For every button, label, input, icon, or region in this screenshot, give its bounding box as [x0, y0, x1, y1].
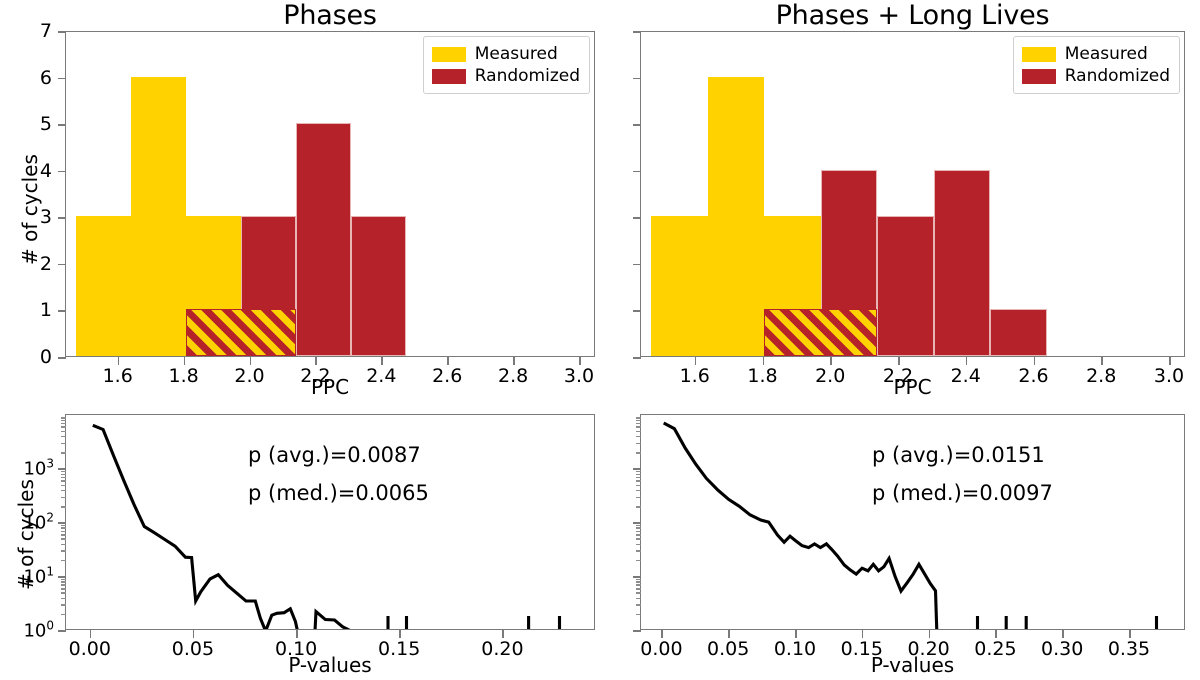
ytickmark-log-minor [61, 471, 66, 473]
xtickmark [929, 630, 931, 638]
xtick-label: 2.0 [234, 365, 264, 387]
xtick-label: 3.0 [1154, 365, 1184, 387]
ytickmark-log-minor [61, 436, 66, 438]
ytickmark-log [58, 576, 66, 578]
ytickmark [633, 310, 641, 312]
xtick-label: 1.8 [747, 365, 777, 387]
ytickmark-log-minor [61, 485, 66, 487]
xtick-label: 0.25 [974, 638, 1016, 660]
panel-title-phases-long-lives: Phases + Long Lives [640, 0, 1185, 31]
xtickmark [830, 357, 832, 365]
ytickmark-log-minor [61, 431, 66, 433]
annotation-p-med-right: p (med.)=0.0097 [872, 481, 1053, 505]
ytickmark-log-minor [636, 588, 641, 590]
legend-row-randomized: Randomized [432, 65, 580, 87]
ytickmark-log-minor [636, 560, 641, 562]
ytickmark [58, 171, 66, 173]
xtick-label: 0.20 [907, 638, 949, 660]
ytickmark-log-minor [636, 436, 641, 438]
ytickmark-log-minor [61, 420, 66, 422]
ytickmark-log-minor [636, 579, 641, 581]
ytickmark-log-minor [61, 598, 66, 600]
figure-canvas: Phases # of cycles PPC Measured [0, 0, 1200, 680]
legend-row-randomized: Randomized [1022, 65, 1170, 87]
ytickmark-log-minor [61, 452, 66, 454]
ytickmark-log-minor [61, 480, 66, 482]
ytickmark-log-minor [636, 417, 641, 419]
ytickmark-log-minor [61, 417, 66, 419]
xtick-label: 0.00 [69, 638, 111, 660]
ytickmark [58, 357, 66, 359]
bar-overlap-hatched [764, 309, 877, 356]
legend-swatch-measured-icon [432, 47, 466, 62]
ytick-label-log: 101 [14, 565, 54, 588]
ytickmark [633, 171, 641, 173]
legend-top-right: Measured Randomized [1013, 36, 1180, 94]
ytickmark-log-minor [61, 423, 66, 425]
bar-measured-2 [708, 77, 765, 356]
xtick-label: 3.0 [564, 365, 594, 387]
xtickmark [315, 357, 317, 365]
panel-phases-pvalues: # of cycles P-values p (avg.)=0.0087 p (… [0, 400, 600, 680]
ytick-label: 6 [20, 67, 52, 89]
ytickmark [58, 31, 66, 33]
ytickmark-log-minor [636, 480, 641, 482]
plot-area-phases-long-lives-histogram: Measured Randomized [640, 31, 1185, 357]
legend-label-randomized: Randomized [475, 68, 580, 85]
ytickmark-log-minor [61, 614, 66, 616]
xtick-label: 2.2 [883, 365, 913, 387]
ytick-label-log: 102 [14, 511, 54, 534]
ytick-label: 4 [20, 160, 52, 182]
legend-swatch-randomized-icon [1022, 69, 1056, 84]
xtickmark [579, 357, 581, 365]
ytickmark-log-minor [636, 584, 641, 586]
bar-randomized-5 [351, 216, 406, 356]
xtickmark [661, 630, 663, 638]
ytickmark-log-minor [636, 431, 641, 433]
xtickmark [1169, 357, 1171, 365]
ytickmark [633, 31, 641, 33]
xtickmark [1034, 357, 1036, 365]
bar-measured-1 [651, 216, 708, 356]
xtickmark [399, 630, 401, 638]
xtick-label: 1.8 [168, 365, 198, 387]
xtick-label: 0.10 [275, 638, 317, 660]
ytickmark-log-minor [61, 581, 66, 583]
xtick-label: 2.4 [366, 365, 396, 387]
ytickmark [633, 357, 641, 359]
bar-randomized-5 [990, 309, 1047, 356]
ytickmark-log-minor [636, 527, 641, 529]
ytickmark [58, 264, 66, 266]
legend-top-left: Measured Randomized [423, 36, 590, 94]
xtickmark [90, 630, 92, 638]
ytickmark-log-minor [636, 550, 641, 552]
xtick-label: 2.0 [815, 365, 845, 387]
ytickmark-log-minor [636, 497, 641, 499]
xtickmark [1129, 630, 1131, 638]
ytickmark-log [58, 468, 66, 470]
ytickmark [58, 124, 66, 126]
bar-randomized-4 [296, 123, 351, 356]
ytick-label: 5 [20, 113, 52, 135]
ytickmark-log-minor [636, 544, 641, 546]
xtick-label: 2.8 [498, 365, 528, 387]
legend-swatch-measured-icon [1022, 47, 1056, 62]
bar-measured-2 [131, 77, 186, 356]
xtickmark [795, 630, 797, 638]
xtick-label: 0.10 [774, 638, 816, 660]
legend-row-measured: Measured [1022, 43, 1170, 65]
xtick-label: 0.05 [707, 638, 749, 660]
xtickmark [1062, 630, 1064, 638]
legend-label-randomized: Randomized [1065, 68, 1170, 85]
ytickmark-log-minor [636, 506, 641, 508]
ytickmark-log [633, 630, 641, 632]
annotation-p-med-left: p (med.)=0.0065 [248, 481, 429, 505]
ytickmark-log-minor [636, 581, 641, 583]
ytickmark-log-minor [61, 474, 66, 476]
ytickmark [633, 124, 641, 126]
ytick-label: 0 [20, 346, 52, 368]
ytickmark-log-minor [636, 598, 641, 600]
ytickmark-log-minor [61, 531, 66, 533]
bar-randomized-3 [877, 216, 934, 356]
panel-phases-long-lives-pvalues: P-values p (avg.)=0.0151 p (med.)=0.0097 [600, 400, 1200, 680]
ytickmark-log-minor [61, 497, 66, 499]
xtick-label: 1.6 [103, 365, 133, 387]
annotation-p-avg-left: p (avg.)=0.0087 [248, 443, 421, 467]
xtick-label: 0.15 [841, 638, 883, 660]
ytickmark-log-minor [636, 538, 641, 540]
ytickmark-log-minor [61, 490, 66, 492]
legend-row-measured: Measured [432, 43, 580, 65]
xtickmark [1101, 357, 1103, 365]
xtickmark [728, 630, 730, 638]
ytickmark-log [633, 522, 641, 524]
ytickmark-log-minor [636, 474, 641, 476]
bar-measured-1 [76, 216, 131, 356]
plot-area-phases-histogram: Measured Randomized [65, 31, 595, 357]
ytick-label-log: 100 [14, 619, 54, 642]
ytickmark-log [633, 468, 641, 470]
xtick-label: 0.00 [640, 638, 682, 660]
ytickmark [633, 264, 641, 266]
xtickmark [447, 357, 449, 365]
ytickmark-log-minor [61, 477, 66, 479]
xtickmark [381, 357, 383, 365]
xtick-label: 0.05 [172, 638, 214, 660]
xtick-label: 0.15 [378, 638, 420, 660]
ytickmark-log-minor [636, 426, 641, 428]
xtick-label: 1.6 [680, 365, 710, 387]
legend-label-measured: Measured [475, 46, 558, 63]
ytickmark-log-minor [636, 592, 641, 594]
ytickmark-log-minor [61, 579, 66, 581]
bar-randomized-4 [934, 170, 991, 356]
xtickmark [502, 630, 504, 638]
xtickmark [862, 630, 864, 638]
ytickmark-log-minor [636, 525, 641, 527]
ytickmark-log-minor [61, 443, 66, 445]
legend-label-measured: Measured [1065, 46, 1148, 63]
xtick-label: 2.2 [300, 365, 330, 387]
ytickmark-log-minor [61, 544, 66, 546]
ytickmark-log-minor [636, 531, 641, 533]
xtickmark [118, 357, 120, 365]
ytickmark-log-minor [636, 423, 641, 425]
ytick-label-log: 103 [14, 457, 54, 480]
ytickmark-log-minor [61, 604, 66, 606]
xtick-label: 0.35 [1108, 638, 1150, 660]
xtickmark [966, 357, 968, 365]
ytick-label: 3 [20, 206, 52, 228]
xtickmark [184, 357, 186, 365]
ytickmark-log-minor [61, 588, 66, 590]
ytickmark-log-minor [636, 490, 641, 492]
ytickmark-log-minor [61, 538, 66, 540]
ytickmark-log-minor [61, 560, 66, 562]
xtick-label: 0.20 [481, 638, 523, 660]
ytickmark-log [58, 630, 66, 632]
xtickmark [695, 357, 697, 365]
ytickmark-log-minor [636, 477, 641, 479]
ytickmark-log [58, 522, 66, 524]
ytickmark-log-minor [636, 614, 641, 616]
ytickmark-log-minor [636, 534, 641, 536]
ytickmark [58, 78, 66, 80]
legend-swatch-randomized-icon [432, 69, 466, 84]
xtick-label: 2.6 [1018, 365, 1048, 387]
annotation-p-avg-right: p (avg.)=0.0151 [872, 443, 1045, 467]
ytickmark-log-minor [636, 452, 641, 454]
ytickmark-log-minor [61, 527, 66, 529]
ytickmark-log-minor [61, 506, 66, 508]
ytick-label: 2 [20, 253, 52, 275]
ytickmark [633, 217, 641, 219]
ytickmark-log-minor [61, 426, 66, 428]
xtickmark [296, 630, 298, 638]
ytickmark-log-minor [636, 443, 641, 445]
xtick-label: 2.4 [951, 365, 981, 387]
ytickmark-log-minor [61, 584, 66, 586]
panel-phases-histogram: Phases # of cycles PPC Measured [0, 0, 600, 400]
ytickmark [58, 217, 66, 219]
ytickmark-log-minor [636, 420, 641, 422]
ytickmark [58, 310, 66, 312]
xtick-label: 2.8 [1086, 365, 1116, 387]
xtickmark [995, 630, 997, 638]
ytick-label: 1 [20, 299, 52, 321]
xtickmark [898, 357, 900, 365]
xtickmark [193, 630, 195, 638]
xtickmark [513, 357, 515, 365]
panel-phases-long-lives-histogram: Phases + Long Lives PPC Measu [600, 0, 1200, 400]
xtick-label: 0.30 [1041, 638, 1083, 660]
ytickmark-log-minor [636, 485, 641, 487]
xtickmark [763, 357, 765, 365]
ytickmark-log-minor [61, 534, 66, 536]
ytickmark [633, 78, 641, 80]
xtick-label: 2.6 [432, 365, 462, 387]
bar-overlap-hatched [186, 309, 296, 356]
ytickmark-log-minor [636, 471, 641, 473]
ytickmark-log-minor [61, 592, 66, 594]
ytickmark-log [633, 576, 641, 578]
ytickmark-log-minor [61, 550, 66, 552]
ytick-label: 7 [20, 20, 52, 42]
xtickmark [250, 357, 252, 365]
ytickmark-log-minor [61, 525, 66, 527]
ytickmark-log-minor [636, 604, 641, 606]
panel-title-phases: Phases [65, 0, 595, 31]
